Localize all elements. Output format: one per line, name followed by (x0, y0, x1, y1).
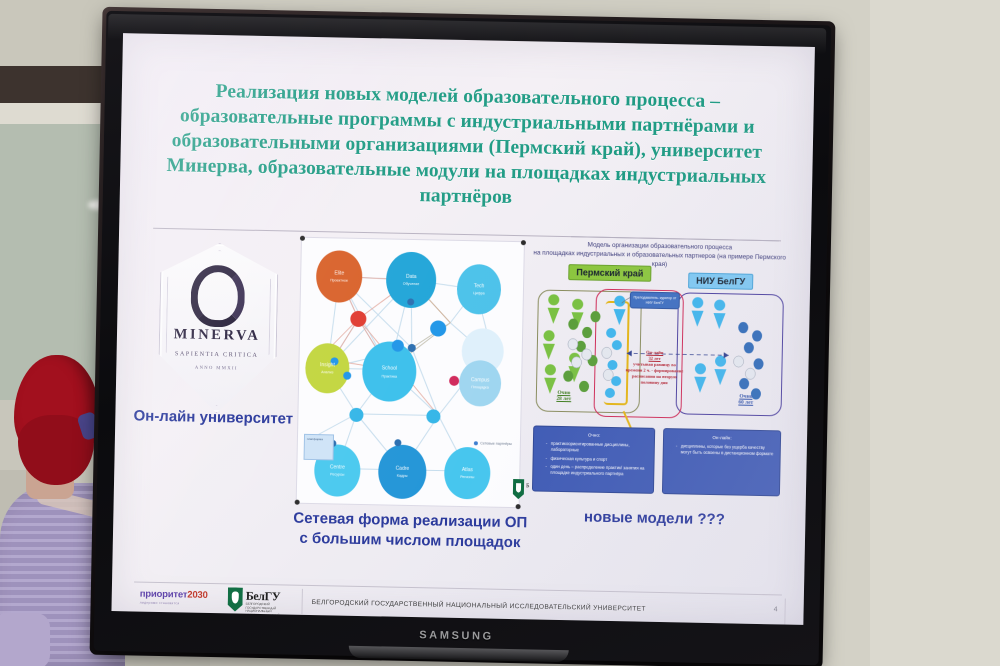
wall-right-near (870, 0, 1000, 666)
callout-onsite-item: физическая культура и спорт (546, 455, 648, 463)
footer-separator (301, 589, 303, 617)
callout-onsite-item: практикоориентированные дисциплины, лабо… (546, 441, 648, 455)
priority-2030-logo: приоритет2030 лидерами становятся (140, 589, 220, 607)
network-caption-line1: Сетевая форма реализации ОП (293, 510, 527, 532)
right-model-diagram: Модель организации образовательного проц… (526, 239, 789, 514)
online-center-note: Он-лайн 32 лет учитывая разницу во време… (625, 349, 684, 386)
svg-text:Регионы: Регионы (460, 475, 475, 479)
svg-text:Практика: Практика (381, 374, 397, 378)
footer-university-name: БЕЛГОРОДСКИЙ ГОСУДАРСТВЕННЫЙ НАЦИОНАЛЬНЫ… (312, 599, 646, 613)
callout-onsite-title: Очно: (540, 432, 648, 440)
tutor-callout: Преподаватель- куратор от НИУ БелГУ (630, 291, 680, 309)
svg-text:Elite: Elite (334, 270, 344, 276)
network-note-box: платформа (304, 434, 335, 461)
selection-handle[interactable] (521, 240, 526, 245)
svg-text:Insight: Insight (320, 362, 335, 368)
network-caption-line2: с большим числом площадок (299, 530, 520, 551)
callout-box-online: Он-лайн: дисциплины, которые без ущерба … (662, 428, 781, 496)
priority-tagline: лидерами становятся (140, 601, 220, 607)
slide-title: Реализация новых моделей образовательног… (142, 78, 792, 216)
minerva-wordmark: MINERVA (147, 326, 287, 346)
priority-text: приоритет (140, 589, 188, 601)
selection-handle[interactable] (300, 236, 305, 241)
online-mode: Он-лайн (646, 350, 663, 355)
svg-text:Cadre: Cadre (395, 466, 409, 472)
minerva-logo: MINERVA SAPIENTIA CRITICA ANNO MMXII (145, 238, 289, 426)
callout-online-title: Он-лайн: (670, 434, 774, 442)
tv-screen: Реализация новых моделей образовательног… (111, 33, 814, 625)
svg-text:Площадка: Площадка (471, 385, 488, 389)
svg-text:School: School (382, 365, 397, 371)
group-left-count: 28 лет (544, 396, 584, 403)
svg-text:Кадры: Кадры (397, 474, 408, 478)
callout-onsite-list: практикоориентированные дисциплины, лабо… (539, 441, 648, 478)
belgu-logo: БелГУ БЕЛГОРОДСКИЙ ГОСУДАРСТВЕННЫЙ НАЦИО… (227, 587, 288, 616)
callout-onsite-item: один день – распределение практик/ занят… (545, 464, 647, 478)
network-graph-svg: EliteПроектное DataОбучение TechЦифра In… (297, 238, 524, 507)
presentation-slide: Реализация новых моделей образовательног… (111, 33, 814, 625)
svg-text:Campus: Campus (471, 377, 490, 383)
legend-dot-icon (474, 441, 478, 445)
svg-text:Цифра: Цифра (473, 291, 485, 295)
person-arm (0, 613, 50, 666)
belgu-shield-icon (227, 587, 242, 611)
callout-online-list: дисциплины, которые без ущерба качеству … (670, 443, 774, 457)
svg-text:Обучение: Обучение (403, 282, 420, 286)
svg-text:Centre: Centre (330, 464, 345, 470)
page-number: 4 (774, 606, 778, 613)
selection-handle[interactable] (295, 500, 300, 505)
svg-text:Data: Data (406, 274, 417, 280)
samsung-television: Реализация новых моделей образовательног… (94, 11, 832, 665)
svg-text:Atlas: Atlas (462, 467, 474, 473)
callout-box-onsite: Очно: практикоориентированные дисциплины… (532, 425, 655, 493)
priority-year: 2030 (187, 590, 208, 601)
group-label-left: Очно 28 лет (544, 390, 584, 403)
callout-online-item: дисциплины, которые без ущерба качеству … (676, 444, 774, 458)
svg-text:Ресурсы: Ресурсы (330, 472, 345, 476)
legend-label: Сетевые партнёры (480, 441, 512, 446)
online-note: учитывая разницу во времени 2 ч. - форми… (626, 361, 684, 385)
svg-text:Проектное: Проектное (330, 278, 348, 282)
page-number-separator (784, 599, 786, 625)
priority-wordmark: приоритет2030 (140, 589, 220, 602)
minerva-ring-icon (190, 265, 245, 328)
network-caption: Сетевая форма реализации ОП с большим чи… (275, 508, 546, 553)
photo-of-presentation-screen: Реализация новых моделей образовательног… (0, 0, 1000, 666)
online-count: 32 лет (649, 356, 661, 361)
minerva-caption: Он-лайн университет (129, 407, 297, 427)
selection-handle[interactable] (516, 504, 521, 509)
svg-text:Анализ: Анализ (321, 370, 334, 374)
svg-text:Tech: Tech (474, 283, 485, 289)
network-legend: Сетевые партнёры (474, 441, 512, 447)
network-diagram: EliteПроектное DataОбучение TechЦифра In… (296, 237, 525, 508)
group-right-count: 60 лет (726, 399, 766, 406)
group-label-right: Очно 60 лет (726, 393, 766, 406)
